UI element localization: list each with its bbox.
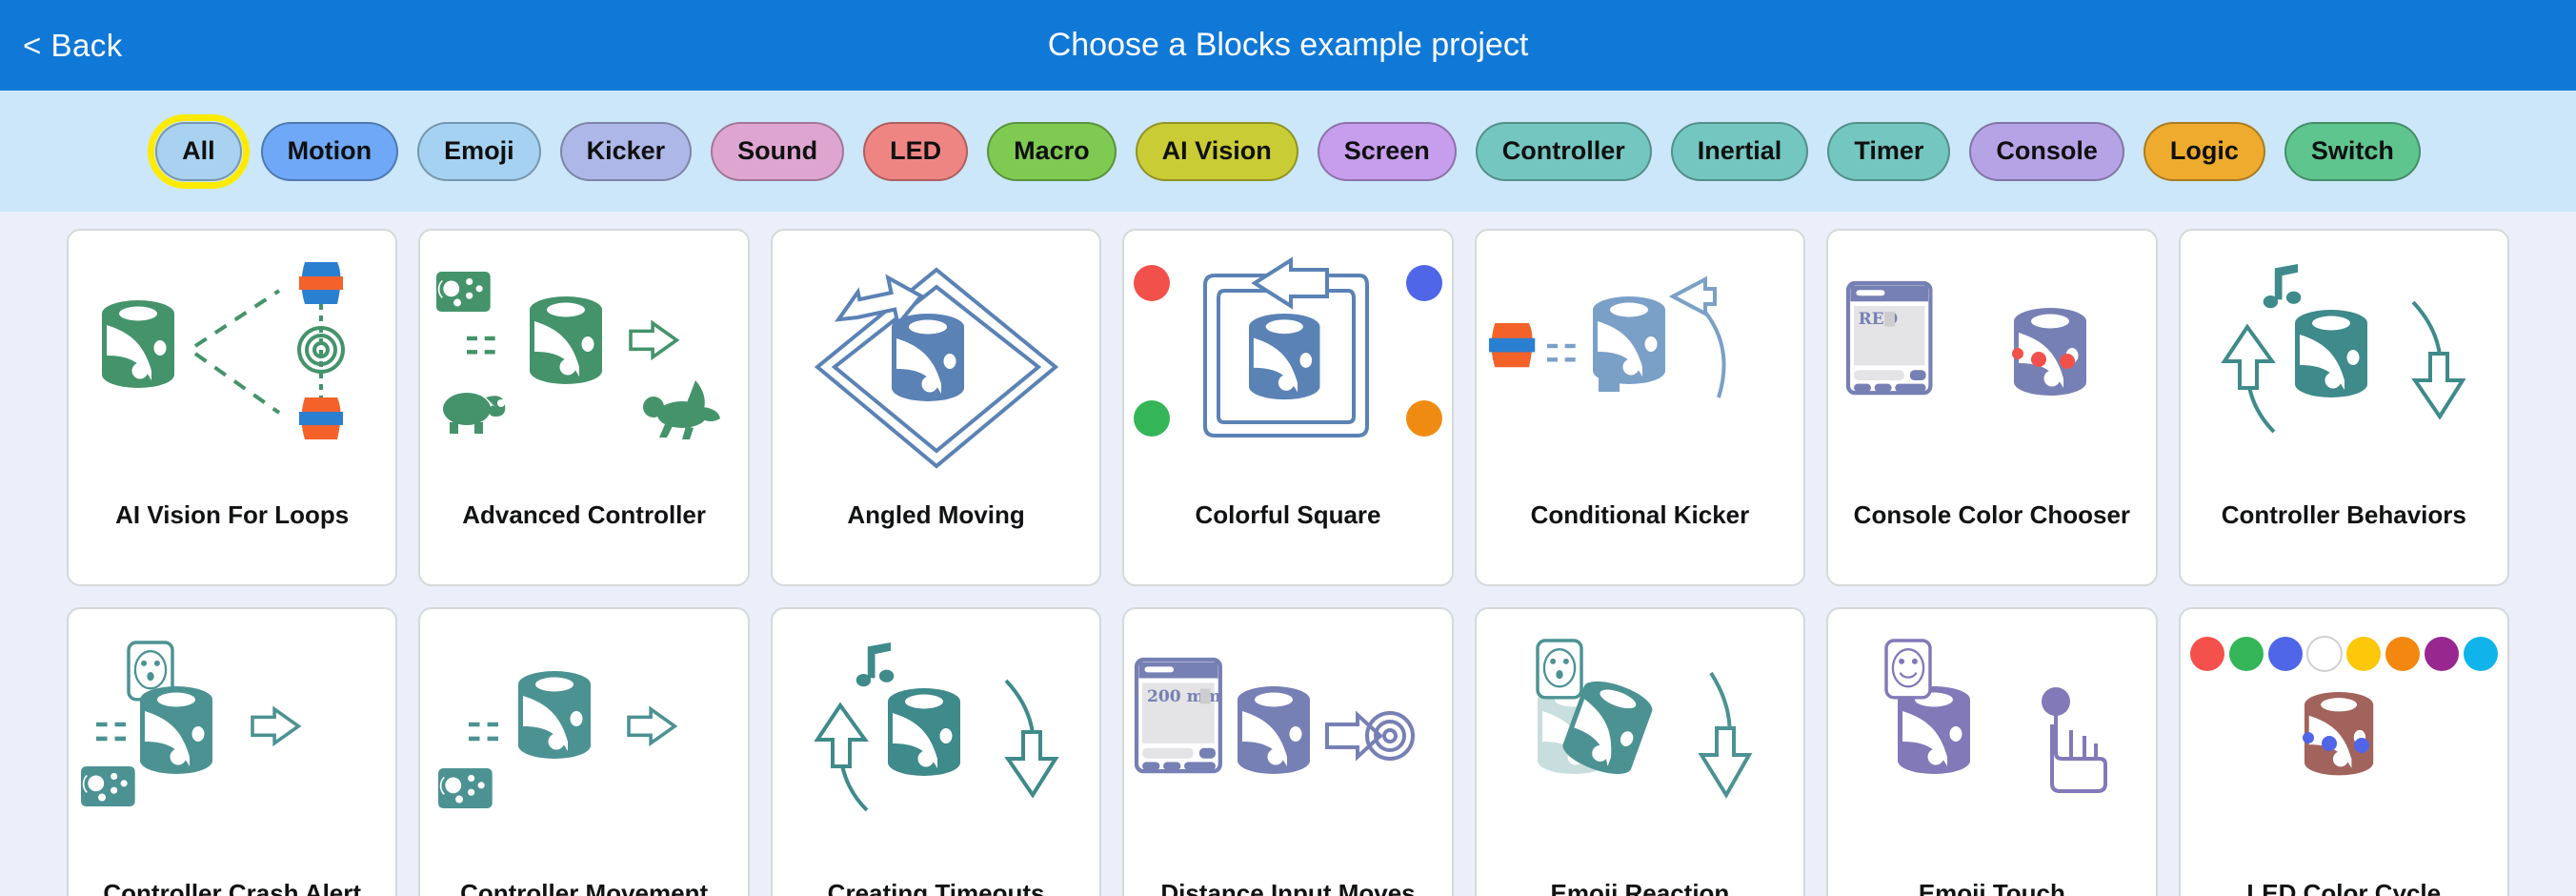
advanced-controller-icon (420, 231, 747, 501)
filter-chip-label: Screen (1344, 136, 1430, 166)
project-card[interactable]: Emoji Touch (1826, 607, 2157, 896)
project-card[interactable]: RED Console Color Chooser (1826, 229, 2157, 586)
project-card-label: Colorful Square (1187, 501, 1388, 584)
project-card[interactable]: Angled Moving (771, 229, 1101, 586)
filter-chip-kicker[interactable]: Kicker (560, 122, 693, 181)
filter-chip-label: Inertial (1698, 136, 1782, 166)
project-card-label: Advanced Controller (454, 501, 714, 584)
page-title: Choose a Blocks example project (0, 27, 2576, 64)
filter-chip-label: Motion (288, 136, 372, 166)
back-button[interactable]: < Back (23, 28, 123, 64)
project-card[interactable]: AI Vision For Loops (67, 229, 397, 586)
project-card-label: Controller Crash Alert (95, 880, 369, 896)
project-card[interactable]: Creating Timeouts (771, 607, 1101, 896)
filter-chip-console[interactable]: Console (1969, 122, 2124, 181)
filter-chip-label: Sound (737, 136, 817, 166)
filter-chip-emoji[interactable]: Emoji (417, 122, 541, 181)
project-card[interactable]: LED Color Cycle (2179, 607, 2509, 896)
filter-chip-all[interactable]: All (155, 122, 242, 181)
project-card[interactable]: Advanced Controller (418, 229, 749, 586)
creating-timeouts-icon (773, 609, 1099, 880)
filter-chip-label: Controller (1502, 136, 1625, 166)
category-filter-bar: AllMotionEmojiKickerSoundLEDMacroAI Visi… (0, 91, 2576, 212)
project-card[interactable]: Conditional Kicker (1475, 229, 1805, 586)
filter-chip-label: Kicker (587, 136, 666, 166)
filter-chip-ai-vision[interactable]: AI Vision (1136, 122, 1298, 181)
angled-moving-icon (773, 231, 1099, 501)
project-card-label: Distance Input Moves (1153, 880, 1422, 896)
project-card-label: Angled Moving (839, 501, 1032, 584)
project-card[interactable]: Controller Crash Alert (67, 607, 397, 896)
filter-chip-label: LED (890, 136, 941, 166)
project-card-label: Emoji Reaction (1543, 880, 1738, 896)
filter-chip-logic[interactable]: Logic (2143, 122, 2265, 181)
filter-chip-label: Timer (1854, 136, 1923, 166)
filter-chip-led[interactable]: LED (863, 122, 968, 181)
project-card-label: Emoji Touch (1911, 880, 2073, 896)
colorful-square-icon (1124, 231, 1451, 501)
project-card-label: Controller Behaviors (2214, 501, 2474, 584)
filter-chip-sound[interactable]: Sound (711, 122, 844, 181)
filter-chip-label: Console (1996, 136, 2098, 166)
project-card-label: Creating Timeouts (820, 880, 1053, 896)
project-card-label: Controller Movement (453, 880, 715, 896)
led-color-cycle-icon (2181, 609, 2507, 880)
project-card[interactable]: Controller Movement (418, 607, 749, 896)
filter-chip-screen[interactable]: Screen (1318, 122, 1457, 181)
controller-movement-icon (420, 609, 747, 880)
emoji-reaction-icon (1477, 609, 1803, 880)
controller-behaviors-icon (2181, 231, 2507, 501)
filter-chip-label: All (182, 136, 215, 166)
console-color-chooser-icon: RED (1828, 231, 2155, 501)
filter-chip-label: Emoji (444, 136, 514, 166)
filter-chip-label: Macro (1014, 136, 1090, 166)
emoji-touch-icon (1828, 609, 2155, 880)
app-header: < Back Choose a Blocks example project (0, 0, 2576, 91)
filter-chip-inertial[interactable]: Inertial (1671, 122, 1809, 181)
project-card[interactable]: Controller Behaviors (2179, 229, 2509, 586)
project-card[interactable]: 200 mm Distance Input Moves (1122, 607, 1453, 896)
distance-input-moves-icon: 200 mm (1124, 609, 1451, 880)
filter-chip-motion[interactable]: Motion (261, 122, 398, 181)
project-card-label: LED Color Cycle (2239, 880, 2448, 896)
project-card-label: Console Color Chooser (1846, 501, 2138, 584)
filter-chip-switch[interactable]: Switch (2284, 122, 2421, 181)
filter-chip-macro[interactable]: Macro (987, 122, 1117, 181)
filter-chip-controller[interactable]: Controller (1476, 122, 1652, 181)
project-grid: AI Vision For Loops (0, 212, 2576, 896)
project-card-label: Conditional Kicker (1523, 501, 1758, 584)
project-card[interactable]: Emoji Reaction (1475, 607, 1805, 896)
project-card[interactable]: Colorful Square (1122, 229, 1453, 586)
controller-crash-alert-icon (69, 609, 395, 880)
filter-chip-label: Logic (2170, 136, 2239, 166)
project-card-label: AI Vision For Loops (108, 501, 356, 584)
filter-chip-label: Switch (2311, 136, 2394, 166)
filter-chip-timer[interactable]: Timer (1827, 122, 1950, 181)
conditional-kicker-icon (1477, 231, 1803, 501)
ai-vision-for-loops-icon (69, 231, 395, 501)
filter-chip-label: AI Vision (1162, 136, 1272, 166)
